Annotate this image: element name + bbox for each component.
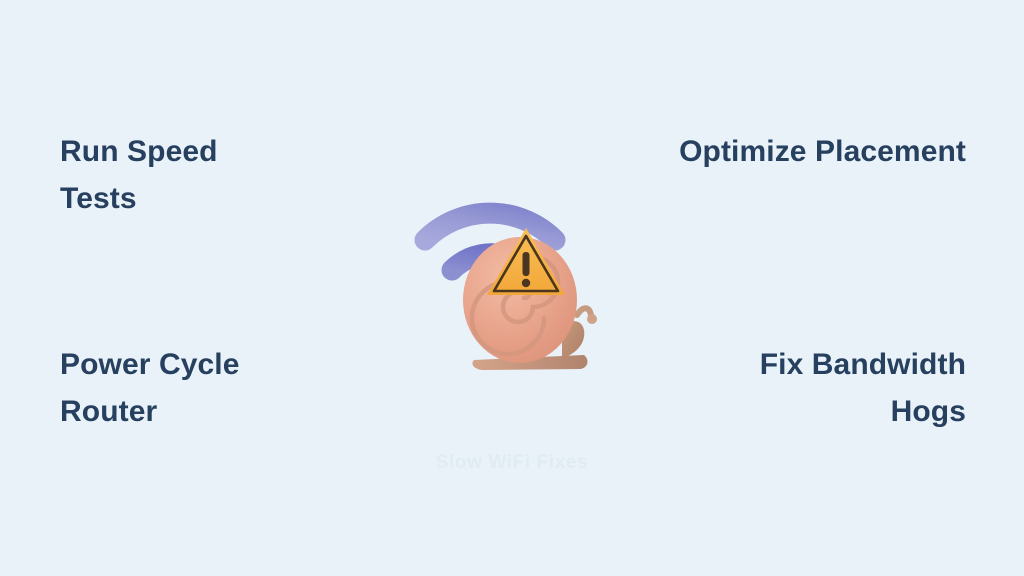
snail-eye: [587, 314, 597, 324]
slow-wifi-snail-illustration: [412, 170, 612, 382]
background-watermark: Slow WiFi Fixes: [0, 452, 1024, 474]
slide-canvas: Run Speed Tests Optimize Placement Power…: [0, 0, 1024, 576]
label-run-speed-tests: Run Speed Tests: [60, 128, 360, 222]
warning-exclamation-bar: [523, 252, 530, 276]
wifi-arc-outer: [425, 213, 555, 240]
label-optimize-placement: Optimize Placement: [546, 128, 966, 175]
snail-eye-stalk: [577, 308, 591, 315]
warning-exclamation-dot: [522, 279, 530, 287]
label-fix-bandwidth-hogs: Fix Bandwidth Hogs: [626, 341, 966, 435]
label-power-cycle-router: Power Cycle Router: [60, 341, 380, 435]
